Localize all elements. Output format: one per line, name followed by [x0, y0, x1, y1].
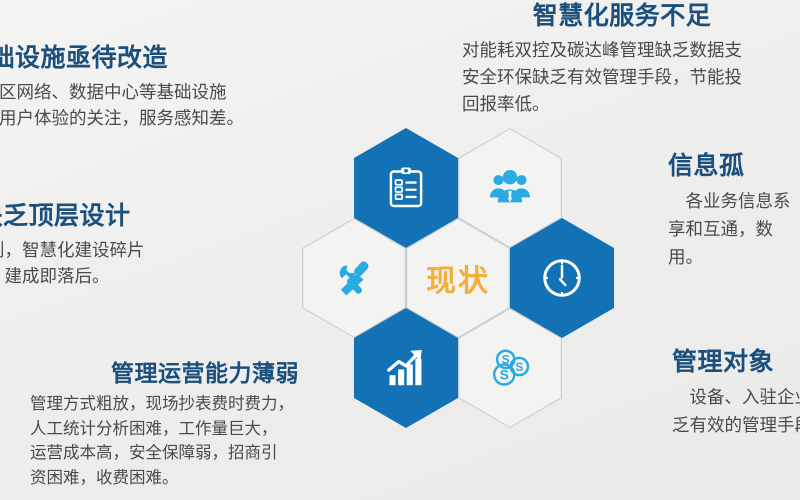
svg-text:S: S: [500, 368, 509, 383]
block-title-top-level-design: 设缺乏顶层设计: [0, 202, 332, 231]
block-title-information-island: 信息孤: [668, 152, 800, 181]
money-coins-icon: S S S: [487, 345, 533, 391]
block-body-infrastructure: 园区网络、数据中心等基础设施 乏对用户体验的关注，服务感知差。: [0, 79, 364, 132]
block-body-top-level-design: 性规划，智慧化建设碎片 本系，建成即落后。: [0, 237, 332, 290]
text-block-information-island: 信息孤 各业务信息系 享和互通，数 用。: [668, 152, 800, 271]
people-group-icon: [487, 165, 533, 211]
clock-icon: [539, 255, 585, 301]
text-block-infrastructure: 基础设施亟待改造 园区网络、数据中心等基础设施 乏对用户体验的关注，服务感知差。: [0, 44, 364, 132]
svg-text:S: S: [502, 355, 510, 367]
block-title-infrastructure: 基础设施亟待改造: [0, 44, 364, 73]
block-body-smart-service: 对能耗双控及碳达峰管理缺乏数据支 安全环保缺乏有效管理手段，节能投 回报率低。: [462, 37, 800, 118]
wrench-screwdriver-icon: [331, 255, 377, 301]
clipboard-checklist-icon: [383, 165, 429, 211]
hex-center-label: 现状: [426, 256, 490, 300]
text-block-management-object: 管理对象 设备、入驻企业、资 乏有效的管理手段，: [672, 348, 800, 439]
hexagon-honeycomb: 现状: [292, 128, 612, 418]
slide-canvas: 基础设施亟待改造 园区网络、数据中心等基础设施 乏对用户体验的关注，服务感知差。…: [0, 0, 800, 500]
block-body-information-island: 各业务信息系 享和互通，数 用。: [668, 187, 800, 271]
block-body-management-object: 设备、入驻企业、资 乏有效的管理手段，: [672, 383, 800, 439]
text-block-top-level-design: 设缺乏顶层设计 性规划，智慧化建设碎片 本系，建成即落后。: [0, 202, 332, 290]
growth-bar-chart-icon: [383, 345, 429, 391]
block-title-management-object: 管理对象: [672, 348, 800, 377]
block-title-smart-service: 智慧化服务不足: [462, 2, 800, 31]
svg-text:S: S: [516, 362, 524, 374]
text-block-smart-service: 智慧化服务不足 对能耗双控及碳达峰管理缺乏数据支 安全环保缺乏有效管理手段，节能…: [462, 2, 800, 118]
